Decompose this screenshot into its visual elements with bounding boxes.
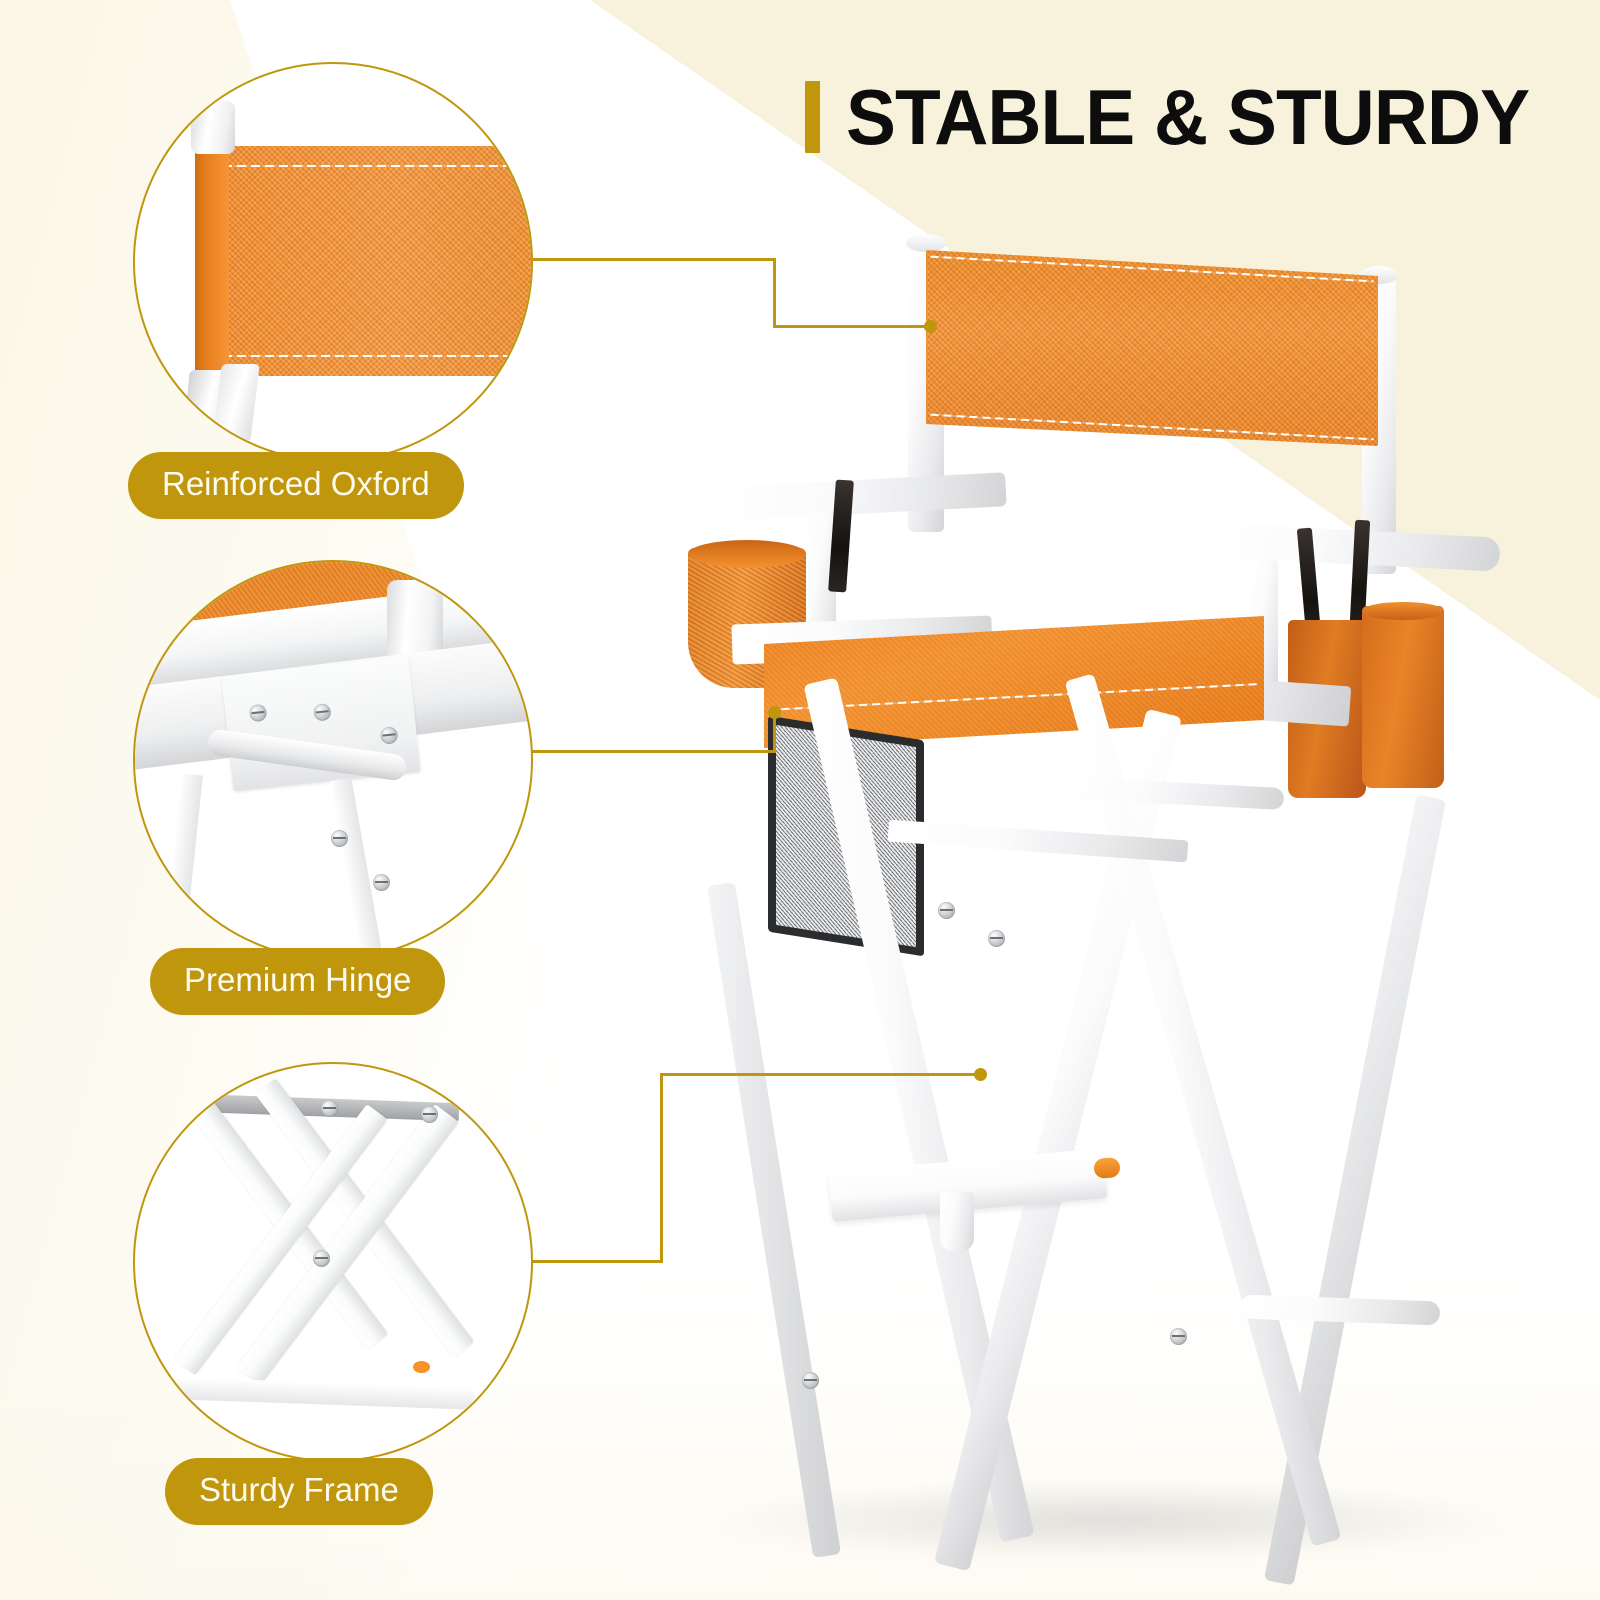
detail-circle-reinforced-oxford [133, 62, 533, 462]
screw-icon [313, 703, 332, 722]
callout-label-reinforced-oxford: Reinforced Oxford [128, 452, 464, 519]
title-text: STABLE & STURDY [846, 78, 1529, 156]
detail-circle-premium-hinge [133, 560, 533, 960]
page-title: STABLE & STURDY [805, 78, 1558, 156]
screw-icon [321, 1100, 338, 1117]
callout-label-sturdy-frame: Sturdy Frame [165, 1458, 433, 1525]
oxford-fabric-edge-curl [195, 146, 229, 376]
connector-segment-h2 [660, 1073, 980, 1076]
hinge-detail-leg-right [330, 777, 383, 958]
screw-icon [249, 704, 268, 723]
frame-detail-orange-cap [413, 1361, 430, 1373]
infographic-canvas: STABLE & STURDY Reinforced Oxford [0, 0, 1600, 1600]
detail-circle-sturdy-frame [133, 1062, 533, 1462]
frame-pole-upper [191, 102, 235, 154]
frame-detail-bottom-rail [145, 1376, 476, 1410]
screw-icon [331, 830, 348, 847]
title-accent-bar [805, 81, 820, 153]
screw-icon [313, 1250, 330, 1267]
screw-icon [421, 1106, 438, 1123]
connector-segment-v [660, 1073, 663, 1262]
callout-label-premium-hinge: Premium Hinge [150, 948, 445, 1015]
connector-endpoint-dot [974, 1068, 987, 1081]
frame-pole-lower-secondary [212, 364, 260, 442]
screw-icon [373, 874, 390, 891]
screw-icon [380, 726, 399, 745]
oxford-fabric-swatch [195, 146, 533, 376]
